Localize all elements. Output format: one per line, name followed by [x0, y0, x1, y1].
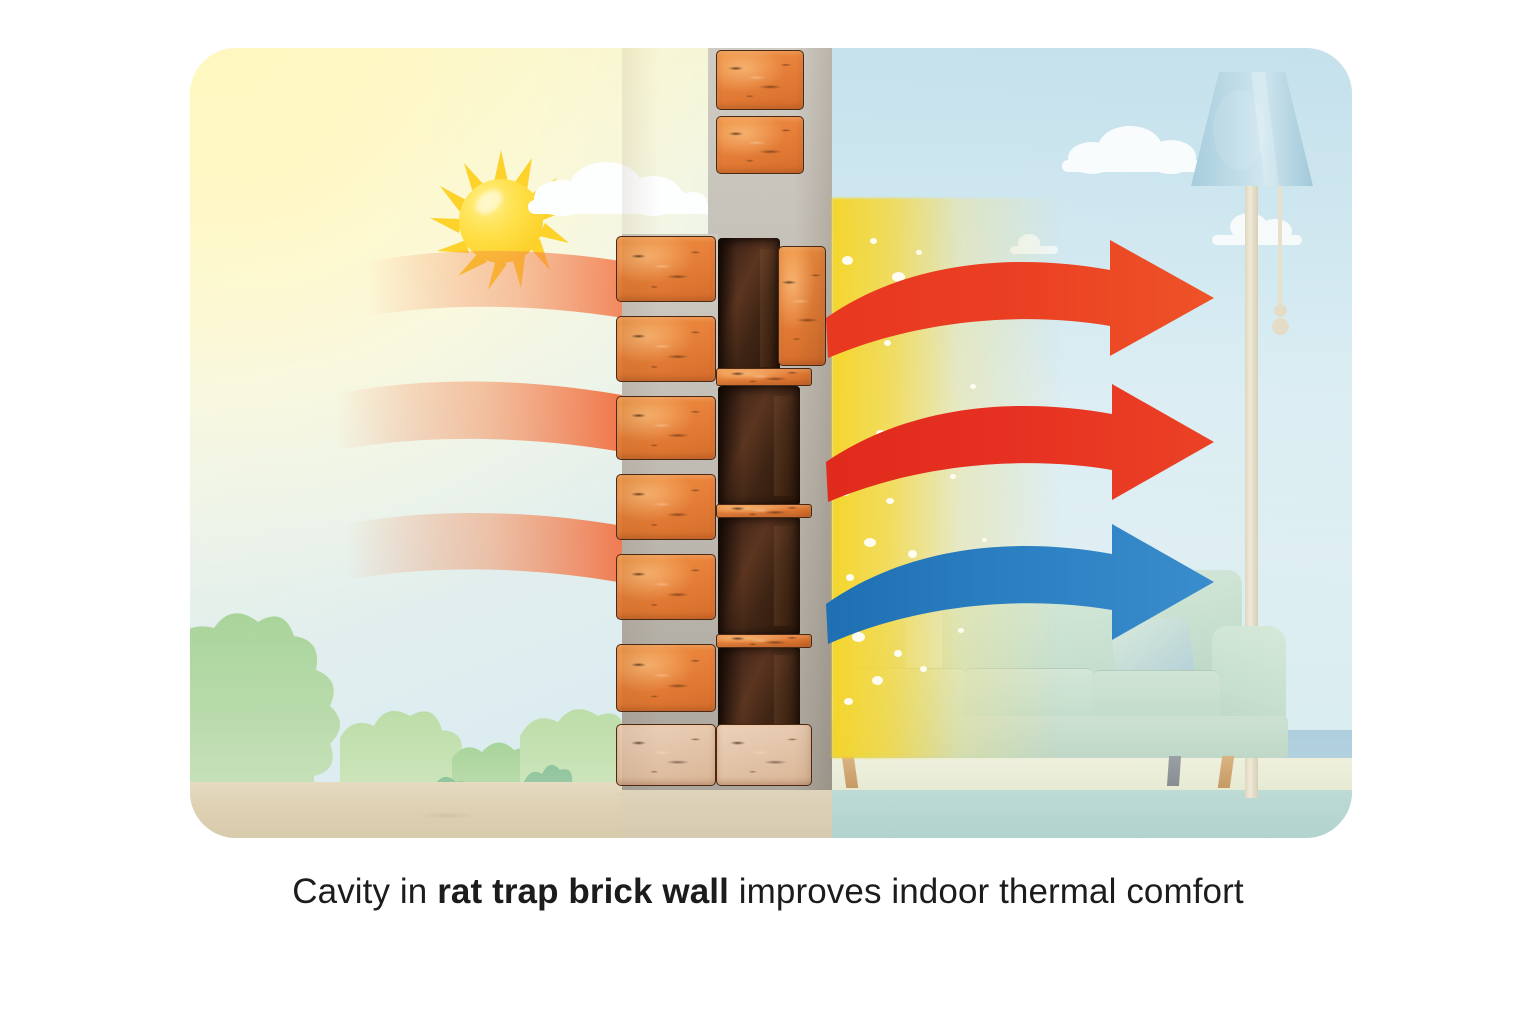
lamp-chain-bead-bottom — [1272, 318, 1289, 335]
lamp-chain-bead-top — [1274, 304, 1287, 317]
cavity-1 — [718, 238, 780, 378]
brick-l2 — [616, 316, 716, 382]
cool-air-arrow — [822, 516, 1242, 650]
brick-header-1 — [716, 368, 812, 386]
cavity-3-highlight — [774, 526, 795, 627]
lamp-pull-chain — [1278, 186, 1282, 304]
lamp-shade-icon — [1187, 68, 1317, 194]
illustration-card — [190, 48, 1352, 838]
cavity-1-shadow — [718, 238, 737, 378]
sofa-leg-1 — [842, 756, 858, 788]
brick-l4 — [616, 474, 716, 540]
caption: Cavity in rat trap brick wall improves i… — [0, 872, 1536, 912]
brick-l3 — [616, 396, 716, 460]
reflected-heat-arrow-1 — [822, 236, 1242, 366]
sofa-leg-3 — [1218, 756, 1234, 788]
reflected-heat-arrow-2 — [822, 378, 1242, 510]
cavity-2 — [718, 386, 800, 506]
cavity-3-shadow — [718, 516, 743, 636]
brick-r2 — [716, 116, 804, 174]
caption-part-1: Cavity in — [292, 872, 437, 911]
brick-l6 — [616, 644, 716, 712]
cavity-3 — [718, 516, 800, 636]
brick-l7 — [616, 724, 716, 786]
brick-l1 — [616, 236, 716, 302]
brick-r1 — [716, 50, 804, 110]
brick-l5 — [616, 554, 716, 620]
caption-part-2: improves indoor thermal comfort — [729, 872, 1244, 911]
sofa-leg-2 — [1167, 756, 1181, 786]
caption-emphasis: rat trap brick wall — [437, 872, 729, 911]
illustration-stage: Cavity in rat trap brick wall improves i… — [0, 0, 1536, 1024]
brick-header-4 — [716, 724, 812, 786]
brick-header-2 — [716, 504, 812, 518]
wall-footing — [622, 790, 832, 838]
cavity-1-highlight — [760, 249, 776, 367]
indoor-floor — [832, 790, 1352, 838]
brick-header-3 — [716, 634, 812, 648]
rat-trap-bond-brick-wall — [622, 48, 832, 790]
brick-r3 — [778, 246, 826, 366]
cavity-2-shadow — [718, 386, 743, 506]
cavity-2-highlight — [774, 396, 795, 497]
